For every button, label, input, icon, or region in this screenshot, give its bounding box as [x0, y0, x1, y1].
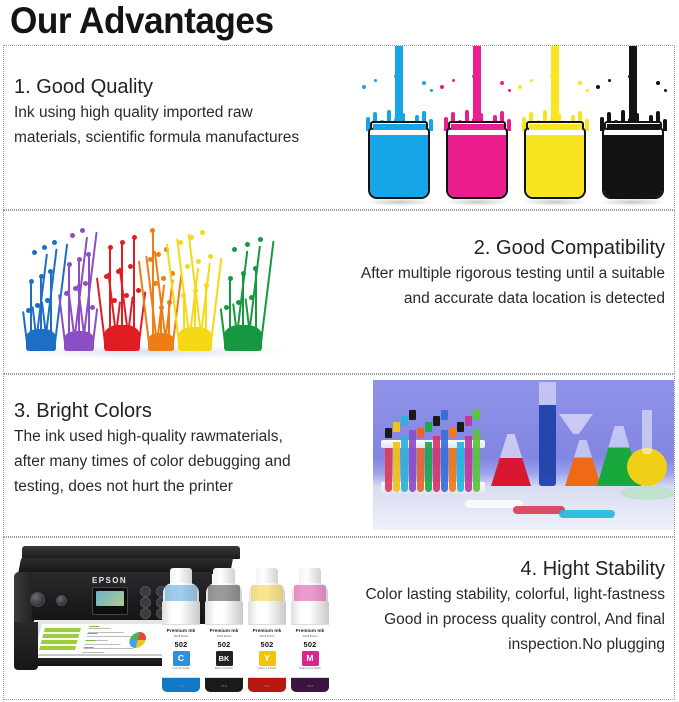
- advantage-section-1: 1. Good Quality Ink using high quality i…: [3, 45, 675, 210]
- test-tube: [457, 442, 464, 492]
- test-tube-cap: [393, 422, 400, 432]
- bottle-shoulder: [249, 583, 285, 603]
- epson-printer-with-ink-bottles-image: EPSON Premium InkRefill Bottle502CCyan I…: [8, 542, 308, 694]
- test-tube-cap: [465, 416, 472, 426]
- bottle-title: Premium Ink: [162, 628, 200, 633]
- bottle-subtitle: Refill Bottle: [291, 634, 329, 638]
- section-4-line-1: Color lasting stability, colorful, light…: [365, 582, 665, 607]
- advantage-section-4: EPSON Premium InkRefill Bottle502CCyan I…: [3, 537, 675, 700]
- magenta-jar: [446, 127, 508, 199]
- bottle-description: Yellow Ink Bottle: [248, 667, 286, 670]
- test-tube-cap: [473, 410, 480, 420]
- section-4-line-3: inspection.No plugging: [365, 632, 665, 657]
- bottle-volume: 70ml: [290, 684, 330, 688]
- bottle-volume: 70ml: [204, 684, 244, 688]
- section-1-line-1: Ink using high quality imported raw: [14, 100, 299, 125]
- bottle-label: Premium InkRefill Bottle502YYellow Ink B…: [248, 624, 286, 678]
- black-jar: [602, 127, 664, 199]
- cyan-bottle: Premium InkRefill Bottle502CCyan Ink Bot…: [161, 568, 201, 692]
- bottle-label: Premium InkRefill Bottle502CCyan Ink Bot…: [162, 624, 200, 678]
- bottle-color-code: C: [173, 651, 190, 666]
- section-2-heading: 2. Good Compatibility: [361, 235, 665, 261]
- section-2-line-1: After multiple rigorous testing until a …: [361, 261, 665, 286]
- syringe: [513, 506, 565, 514]
- bottle-label: Premium InkRefill Bottle502BKBlack Ink B…: [205, 624, 243, 678]
- section-1-line-2: materials, scientific formula manufactur…: [14, 125, 299, 150]
- test-tube: [409, 430, 416, 492]
- bottle-model: 502: [205, 640, 243, 649]
- printer-paper-slot: [34, 658, 176, 666]
- glass-funnel: [559, 414, 593, 434]
- bottle-subtitle: Refill Bottle: [248, 634, 286, 638]
- section-4-text: 4. Hight Stability Color lasting stabili…: [365, 556, 665, 657]
- bottle-description: Cyan Ink Bottle: [162, 667, 200, 670]
- section-3-text: 3. Bright Colors The ink used high-quali…: [14, 398, 291, 499]
- printer-lcd-screen: [92, 587, 128, 615]
- test-tube-cap: [433, 416, 440, 426]
- test-tube-cap: [417, 428, 424, 438]
- test-tube-cap: [449, 428, 456, 438]
- bottle-subtitle: Refill Bottle: [205, 634, 243, 638]
- bottle-title: Premium Ink: [291, 628, 329, 633]
- bottle-color-code: M: [302, 651, 319, 666]
- yellow-jar: [524, 127, 586, 199]
- bottle-shoulder: [163, 583, 199, 603]
- test-tube: [473, 430, 480, 492]
- printer-power-button[interactable]: [30, 592, 45, 607]
- advantage-section-2: 2. Good Compatibility After multiple rig…: [3, 210, 675, 374]
- test-tube: [385, 448, 392, 492]
- bottle-shoulder: [206, 583, 242, 603]
- section-3-line-3: testing, does not hurt the printer: [14, 474, 291, 499]
- test-tube-cap: [425, 422, 432, 432]
- printer-home-button[interactable]: [56, 595, 67, 606]
- section-3-heading: 3. Bright Colors: [14, 398, 291, 424]
- cmyk-ink-splash-jars-image: [362, 49, 674, 207]
- petri-dish: [621, 486, 675, 500]
- laboratory-glassware-image: [362, 375, 675, 537]
- red-erlenmeyer-flask: [491, 434, 531, 486]
- test-tube-cap: [441, 410, 448, 420]
- test-tube: [465, 436, 472, 492]
- printer-front-panel: [14, 622, 38, 670]
- bottle-model: 502: [291, 640, 329, 649]
- advantages-infographic: Our Advantages 1. Good Quality Ink using…: [0, 0, 679, 702]
- black-bottle: Premium InkRefill Bottle502BKBlack Ink B…: [204, 568, 244, 692]
- bottle-color-code: Y: [259, 651, 276, 666]
- test-tube-cap: [401, 416, 408, 426]
- bottle-subtitle: Refill Bottle: [162, 634, 200, 638]
- section-3-line-1: The ink used high-quality rawmaterials,: [14, 424, 291, 449]
- test-tube-cap: [385, 428, 392, 438]
- bottle-shoulder: [292, 583, 328, 603]
- advantage-section-3: 3. Bright Colors The ink used high-quali…: [3, 374, 675, 537]
- yellow-bottle: Premium InkRefill Bottle502YYellow Ink B…: [247, 568, 287, 692]
- section-1-text: 1. Good Quality Ink using high quality i…: [14, 74, 299, 150]
- magenta-bottle: Premium InkRefill Bottle502MMagenta Ink …: [290, 568, 330, 692]
- round-flask-neck: [642, 410, 652, 454]
- test-tube: [393, 442, 400, 492]
- test-tube: [401, 436, 408, 492]
- test-tube-cap: [457, 422, 464, 432]
- test-tube: [433, 436, 440, 492]
- printer-brand-label: EPSON: [92, 576, 127, 585]
- test-tube: [425, 442, 432, 492]
- section-2-text: 2. Good Compatibility After multiple rig…: [361, 235, 665, 311]
- orange-erlenmeyer-flask: [565, 440, 601, 486]
- section-3-line-2: after many times of color debugging and: [14, 449, 291, 474]
- bottle-description: Black Ink Bottle: [205, 667, 243, 670]
- syringe: [559, 510, 615, 518]
- bottle-volume: 70ml: [161, 684, 201, 688]
- printed-color-document: [34, 624, 178, 654]
- rainbow-paint-splash-image: [8, 217, 294, 367]
- cyan-jar: [368, 127, 430, 199]
- bottle-label: Premium InkRefill Bottle502MMagenta Ink …: [291, 624, 329, 678]
- bottle-title: Premium Ink: [248, 628, 286, 633]
- section-4-line-2: Good in process quality control, And fin…: [365, 607, 665, 632]
- bottle-color-code: BK: [216, 651, 233, 666]
- bottle-description: Magenta Ink Bottle: [291, 667, 329, 670]
- bottle-title: Premium Ink: [205, 628, 243, 633]
- printer-keypad-button[interactable]: [140, 597, 151, 608]
- section-4-heading: 4. Hight Stability: [365, 556, 665, 582]
- test-tube: [417, 448, 424, 492]
- section-1-heading: 1. Good Quality: [14, 74, 299, 100]
- bottle-model: 502: [162, 640, 200, 649]
- test-tube: [441, 430, 448, 492]
- section-2-line-2: and accurate data location is detected: [361, 286, 665, 311]
- page-title: Our Advantages: [10, 0, 274, 44]
- test-tube: [449, 448, 456, 492]
- printer-keypad-button[interactable]: [140, 586, 151, 597]
- test-tube-cap: [409, 410, 416, 420]
- bottle-volume: 70ml: [247, 684, 287, 688]
- bottle-model: 502: [248, 640, 286, 649]
- blue-graduated-cylinder: [539, 382, 556, 486]
- printer-keypad-button[interactable]: [140, 608, 151, 619]
